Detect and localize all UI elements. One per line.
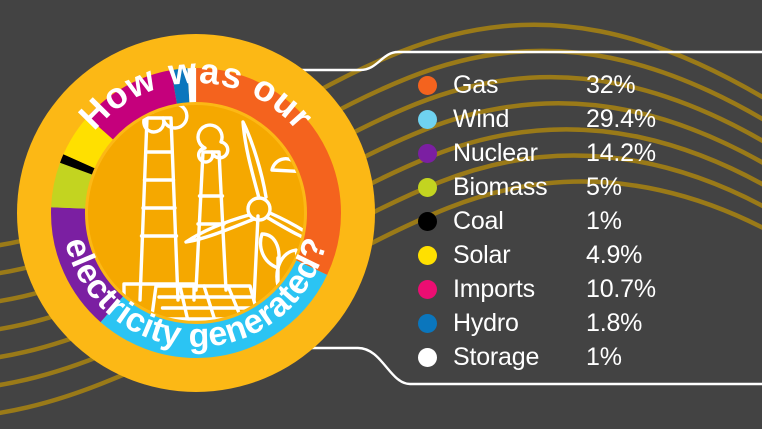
- legend-row-nuclear: Nuclear 14.2%: [418, 136, 718, 170]
- legend-row-wind: Wind 29.4%: [418, 102, 718, 136]
- legend-value-coal: 1%: [586, 209, 622, 234]
- energy-mix-legend: Gas 32% Wind 29.4% Nuclear 14.2% Biomass…: [418, 68, 718, 374]
- legend-value-hydro: 1.8%: [586, 311, 642, 336]
- legend-value-solar: 4.9%: [586, 243, 642, 268]
- legend-row-gas: Gas 32%: [418, 68, 718, 102]
- legend-row-hydro: Hydro 1.8%: [418, 306, 718, 340]
- legend-value-imports: 10.7%: [586, 277, 656, 302]
- legend-row-storage: Storage 1%: [418, 340, 718, 374]
- legend-label-biomass: Biomass: [453, 175, 586, 200]
- legend-row-coal: Coal 1%: [418, 204, 718, 238]
- legend-value-nuclear: 14.2%: [586, 141, 656, 166]
- legend-swatch-coal: [418, 212, 437, 231]
- legend-row-biomass: Biomass 5%: [418, 170, 718, 204]
- legend-label-solar: Solar: [453, 243, 586, 268]
- legend-swatch-nuclear: [418, 144, 437, 163]
- legend-label-gas: Gas: [453, 73, 586, 98]
- legend-swatch-biomass: [418, 178, 437, 197]
- legend-label-storage: Storage: [453, 345, 586, 370]
- legend-label-nuclear: Nuclear: [453, 141, 586, 166]
- legend-label-hydro: Hydro: [453, 311, 586, 336]
- legend-swatch-gas: [418, 76, 437, 95]
- legend-swatch-hydro: [418, 314, 437, 333]
- legend-value-biomass: 5%: [586, 175, 622, 200]
- legend-row-solar: Solar 4.9%: [418, 238, 718, 272]
- legend-value-storage: 1%: [586, 345, 622, 370]
- infographic-canvas: How was our electricity generated? Gas 3…: [0, 0, 762, 429]
- legend-swatch-storage: [418, 348, 437, 367]
- legend-label-coal: Coal: [453, 209, 586, 234]
- legend-value-wind: 29.4%: [586, 107, 656, 132]
- legend-label-imports: Imports: [453, 277, 586, 302]
- legend-swatch-solar: [418, 246, 437, 265]
- legend-swatch-wind: [418, 110, 437, 129]
- legend-label-wind: Wind: [453, 107, 586, 132]
- legend-value-gas: 32%: [586, 73, 635, 98]
- legend-swatch-imports: [418, 280, 437, 299]
- legend-row-imports: Imports 10.7%: [418, 272, 718, 306]
